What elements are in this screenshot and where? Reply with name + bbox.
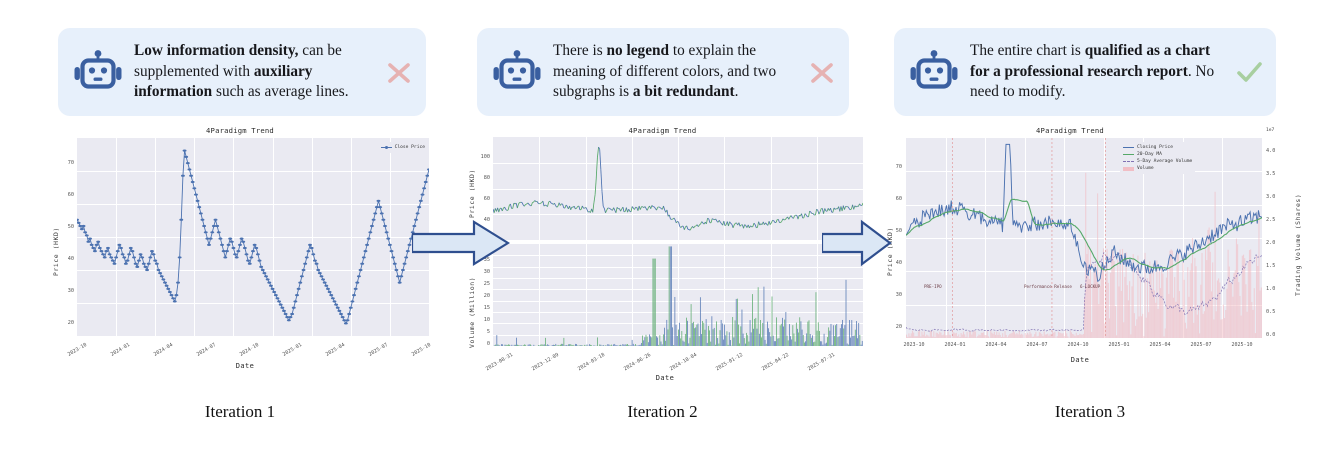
x-tick: 2025-07 xyxy=(1181,342,1221,348)
legend-swatch-20-day-ma xyxy=(1123,154,1134,155)
panel-caption-2: Iteration 2 xyxy=(455,402,870,422)
annotation-lockup: 6-LOCKUP xyxy=(1080,284,1100,289)
panel-caption-1: Iteration 1 xyxy=(40,402,440,422)
y2-tick: 1.0 xyxy=(1266,286,1286,292)
x-axis-label: Date xyxy=(890,356,1270,364)
y-tick: 20 xyxy=(884,324,902,330)
x-tick: 2024-07 xyxy=(1017,342,1057,348)
robot-icon xyxy=(491,46,543,98)
y2-tick: 0.0 xyxy=(1266,332,1286,338)
y-tick: 10 xyxy=(470,317,490,323)
y-tick: 100 xyxy=(470,154,490,160)
x-tick: 2025-01 xyxy=(1099,342,1139,348)
plot-area xyxy=(906,138,1262,338)
legend-item: 20-Day MA xyxy=(1123,151,1192,158)
series-close-price xyxy=(77,138,429,336)
x-axis-label: Date xyxy=(60,362,430,370)
y-tick: 15 xyxy=(470,305,490,311)
y2-exponent-label: 1e7 xyxy=(1266,128,1274,133)
series-volume-bars xyxy=(493,244,863,346)
y-tick: 70 xyxy=(54,160,74,166)
y-tick: 80 xyxy=(470,175,490,181)
x-tick: 2025-04 xyxy=(1140,342,1180,348)
legend-swatch-volume xyxy=(1123,167,1134,171)
panel-iteration-3: The entire chart is qualified as a chart… xyxy=(880,0,1300,453)
legend-item: Closing Price xyxy=(1123,144,1192,151)
feedback-callout-3: The entire chart is qualified as a chart… xyxy=(894,28,1276,116)
panel-iteration-2: There is no legend to explain the meanin… xyxy=(455,0,870,453)
chart-iteration-3: 4Paradigm Trend Price (HKD) 70 60 50 40 … xyxy=(880,126,1300,391)
y-tick: 30 xyxy=(470,269,490,275)
panel-iteration-1: Low information density, can be suppleme… xyxy=(40,0,440,453)
y-tick: 30 xyxy=(884,292,902,298)
cross-icon xyxy=(384,57,414,87)
y-tick: 70 xyxy=(884,164,902,170)
y2-tick: 2.5 xyxy=(1266,217,1286,223)
chart-title: 4Paradigm Trend xyxy=(455,126,870,135)
y2-tick: 4.0 xyxy=(1266,148,1286,154)
legend-label: 5-Day Average Volume xyxy=(1137,158,1192,165)
y-tick: 60 xyxy=(470,196,490,202)
feedback-callout-2: There is no legend to explain the meanin… xyxy=(477,28,849,116)
y2-tick: 1.5 xyxy=(1266,263,1286,269)
y-tick: 60 xyxy=(884,196,902,202)
y2-tick: 3.0 xyxy=(1266,194,1286,200)
y-tick: 5 xyxy=(470,329,490,335)
legend-label: Closing Price xyxy=(1137,144,1173,151)
arrow-1-to-2 xyxy=(412,218,510,268)
y-axis-label-volume: Volume (Million) xyxy=(468,277,476,348)
x-tick: 2024-10 xyxy=(1058,342,1098,348)
chart-legend: Closing Price 20-Day MA 5-Day Average Vo… xyxy=(1120,142,1195,174)
feedback-seg: a bit redundant xyxy=(633,83,735,100)
feedback-seg: . xyxy=(735,83,739,100)
plot-area xyxy=(77,138,429,336)
plot-area-volume xyxy=(493,244,863,346)
x-tick: 2023-10 xyxy=(894,342,934,348)
legend-item: Close Price xyxy=(381,144,425,151)
feedback-seg: such as average lines. xyxy=(212,83,348,100)
y2-tick: 3.5 xyxy=(1266,171,1286,177)
event-marker-lines xyxy=(906,138,1262,338)
y-tick: 25 xyxy=(470,281,490,287)
legend-label: 20-Day MA xyxy=(1137,151,1162,158)
chart-iteration-1: 4Paradigm Trend Price (HKD) 70 60 50 40 … xyxy=(40,126,440,386)
legend-item: 5-Day Average Volume xyxy=(1123,158,1192,165)
x-tick: 2024-04 xyxy=(976,342,1016,348)
y2-tick: 0.5 xyxy=(1266,309,1286,315)
y2-tick: 2.0 xyxy=(1266,240,1286,246)
feedback-seg: Low information density, xyxy=(134,42,298,59)
annotation-performance-release: Performance Release xyxy=(1024,284,1072,289)
y-axis-label: Price (HKD) xyxy=(52,227,60,276)
y-tick: 30 xyxy=(54,288,74,294)
legend-label: Close Price xyxy=(395,144,425,151)
legend-swatch-close-price xyxy=(381,147,392,148)
x-axis-label: Date xyxy=(475,374,855,382)
series-price-dual xyxy=(493,137,863,240)
y2-axis-label: Trading Volume (Shares) xyxy=(1294,194,1302,296)
robot-icon xyxy=(72,46,124,98)
y-tick: 60 xyxy=(54,192,74,198)
legend-swatch-closing-price xyxy=(1123,147,1134,148)
legend-label: Volume xyxy=(1137,165,1154,172)
robot-icon xyxy=(908,46,960,98)
chart-title: 4Paradigm Trend xyxy=(40,126,440,135)
feedback-text-1: Low information density, can be suppleme… xyxy=(134,41,374,102)
feedback-callout-1: Low information density, can be suppleme… xyxy=(58,28,426,116)
panel-caption-3: Iteration 3 xyxy=(880,402,1300,422)
iteration-comparison-figure: Low information density, can be suppleme… xyxy=(0,0,1317,453)
y-tick: 20 xyxy=(54,320,74,326)
feedback-seg: The entire chart is xyxy=(970,42,1085,59)
legend-item: Volume xyxy=(1123,165,1192,172)
y-tick: 40 xyxy=(54,256,74,262)
chart-legend: Close Price xyxy=(378,142,428,153)
feedback-seg: no legend xyxy=(607,42,669,59)
annotation-pre-ipo: PRE-IPO xyxy=(924,284,942,289)
feedback-text-3: The entire chart is qualified as a chart… xyxy=(970,41,1224,102)
arrow-2-to-3 xyxy=(822,218,892,268)
y-tick: 50 xyxy=(54,224,74,230)
chart-title: 4Paradigm Trend xyxy=(860,126,1280,135)
legend-swatch-5-day-average-volume xyxy=(1123,161,1134,162)
feedback-seg: There is xyxy=(553,42,607,59)
feedback-text-2: There is no legend to explain the meanin… xyxy=(553,41,797,102)
chart-iteration-2: 4Paradigm Trend Price (HKD) 100 80 60 40… xyxy=(455,126,870,391)
x-tick: 2024-01 xyxy=(935,342,975,348)
y-tick: 0 xyxy=(470,341,490,347)
check-icon xyxy=(1234,57,1264,87)
cross-icon xyxy=(807,57,837,87)
y-tick: 20 xyxy=(470,293,490,299)
x-tick: 2025-10 xyxy=(1222,342,1262,348)
plot-area-price xyxy=(493,137,863,240)
